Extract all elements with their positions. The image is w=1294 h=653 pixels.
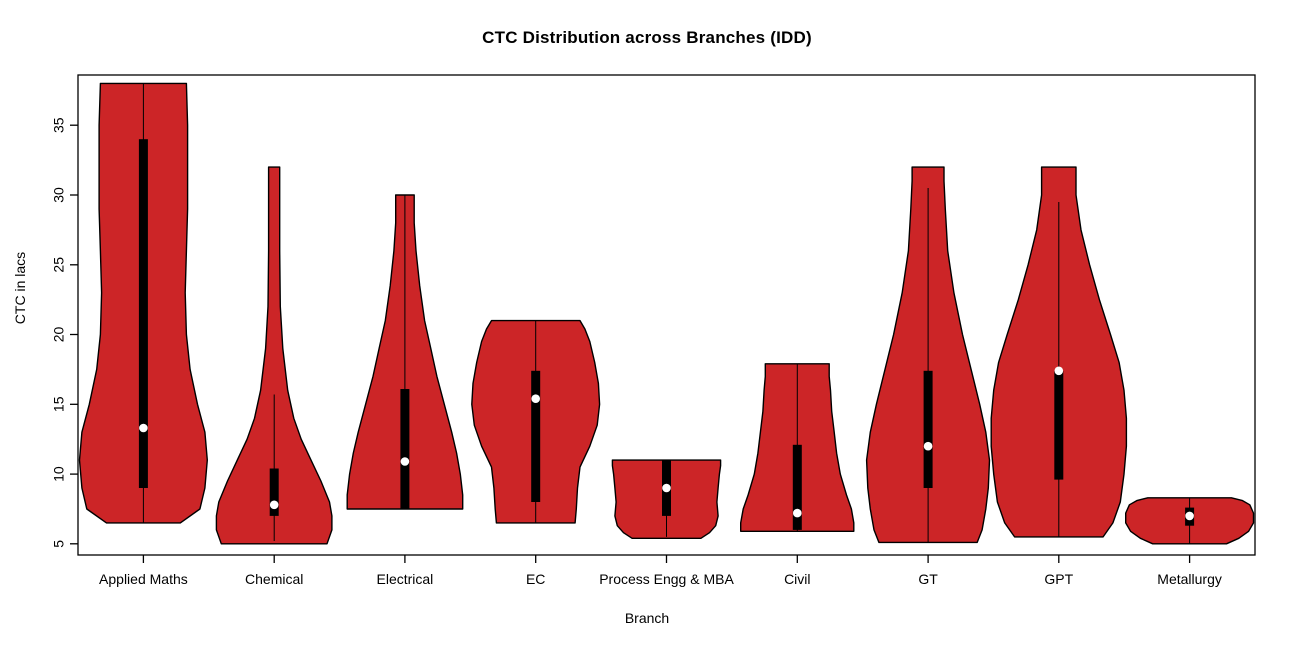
x-tick-label: Metallurgy — [1157, 571, 1222, 587]
median-point — [1185, 512, 1194, 521]
x-tick-label: Civil — [784, 571, 810, 587]
violin-chemical — [216, 167, 332, 544]
iqr-box — [1054, 371, 1063, 480]
x-tick-label: Electrical — [377, 571, 434, 587]
median-point — [401, 457, 410, 466]
violin-metallurgy — [1126, 498, 1254, 544]
violin-gt — [867, 167, 990, 542]
y-tick-label: 20 — [51, 327, 67, 343]
y-tick-label: 5 — [51, 540, 67, 548]
y-tick-label: 10 — [51, 466, 67, 482]
x-tick-label: GT — [918, 571, 938, 587]
violin-ec — [472, 321, 600, 523]
median-point — [793, 509, 802, 518]
plot-canvas: 5101520253035 Applied MathsChemicalElect… — [0, 0, 1294, 653]
x-tick-labels: Applied MathsChemicalElectricalECProcess… — [99, 571, 1222, 587]
violin-electrical — [347, 195, 463, 509]
x-tick-label: Applied Maths — [99, 571, 188, 587]
x-tick-label: Chemical — [245, 571, 303, 587]
iqr-box — [531, 371, 540, 502]
violin-plot-figure: CTC Distribution across Branches (IDD) C… — [0, 0, 1294, 653]
violin-civil — [741, 364, 854, 532]
violin-applied-maths — [80, 83, 208, 523]
median-point — [662, 484, 671, 493]
y-tick-labels: 5101520253035 — [51, 117, 67, 547]
iqr-box — [924, 371, 933, 488]
iqr-box — [139, 139, 148, 488]
median-point — [270, 501, 279, 510]
median-point — [1055, 367, 1064, 376]
y-tick-label: 35 — [51, 117, 67, 133]
x-tick-label: GPT — [1044, 571, 1073, 587]
y-tick-label: 25 — [51, 257, 67, 273]
violin-process-engg-mba — [612, 460, 720, 538]
median-point — [531, 394, 540, 403]
x-tick-label: Process Engg & MBA — [599, 571, 734, 587]
median-point — [924, 442, 933, 451]
y-tick-label: 30 — [51, 187, 67, 203]
iqr-box — [400, 389, 409, 509]
median-point — [139, 424, 148, 433]
y-tick-label: 15 — [51, 396, 67, 412]
violins-group — [80, 83, 1254, 543]
x-tick-label: EC — [526, 571, 545, 587]
violin-gpt — [991, 167, 1126, 537]
